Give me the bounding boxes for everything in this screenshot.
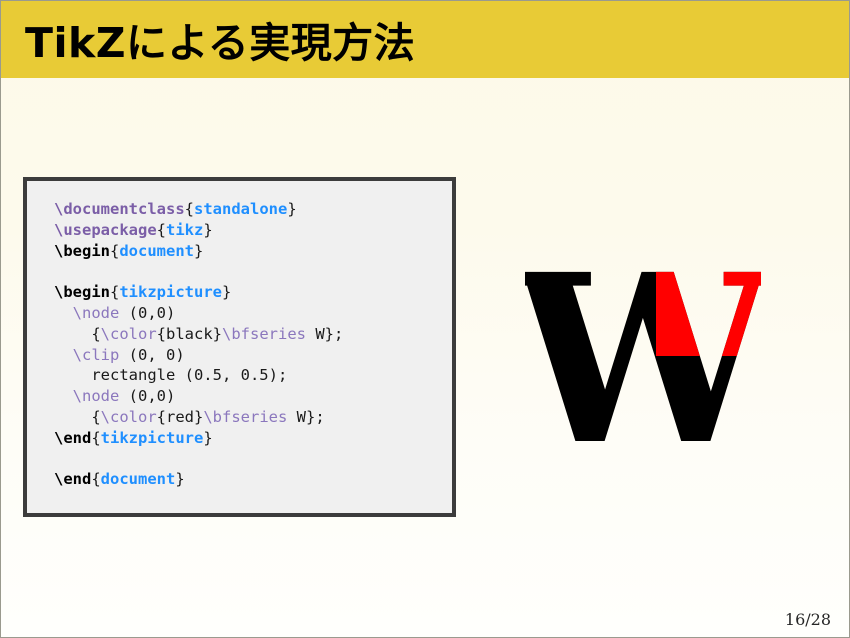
code-token: \bfseries <box>222 325 306 343</box>
code-token: \node <box>73 304 120 322</box>
code-token: tikzpicture <box>119 283 222 301</box>
code-line: \end{tikzpicture} <box>54 428 343 449</box>
page-title: TikZによる実現方法 <box>25 8 415 68</box>
code-token: } <box>203 429 212 447</box>
code-token: \node <box>73 387 120 405</box>
code-line: \node (0,0) <box>54 386 343 407</box>
code-line: \documentclass{standalone} <box>54 199 343 220</box>
code-token: tikzpicture <box>101 429 204 447</box>
code-token: } <box>222 283 231 301</box>
code-token: } <box>287 200 296 218</box>
code-token: (0,0) <box>119 387 175 405</box>
code-token <box>54 387 73 405</box>
code-listing-body: \documentclass{standalone}\usepackage{ti… <box>54 199 343 490</box>
slide-title-bar: TikZによる実現方法 <box>1 1 850 78</box>
code-token: \end <box>54 429 91 447</box>
code-token: \clip <box>73 346 120 364</box>
code-token: { <box>110 242 119 260</box>
code-token: \end <box>54 470 91 488</box>
code-token: document <box>101 470 176 488</box>
code-line: rectangle (0.5, 0.5); <box>54 365 343 386</box>
code-line <box>54 449 343 470</box>
code-token <box>54 346 73 364</box>
code-token: { <box>185 200 194 218</box>
clipped-w-illustration: W W <box>525 259 761 455</box>
code-token: } <box>194 242 203 260</box>
slide: TikZによる実現方法 \documentclass{standalone}\u… <box>0 0 850 638</box>
w-glyph-svg: W W <box>525 259 761 455</box>
code-line <box>54 261 343 282</box>
code-token: } <box>203 221 212 239</box>
code-token: tikz <box>166 221 203 239</box>
code-token: W}; <box>287 408 324 426</box>
code-token: {black} <box>157 325 222 343</box>
code-line: \usepackage{tikz} <box>54 220 343 241</box>
code-token: \begin <box>54 242 110 260</box>
code-token: { <box>91 429 100 447</box>
code-token: \begin <box>54 283 110 301</box>
code-line: \begin{tikzpicture} <box>54 282 343 303</box>
code-token: { <box>91 470 100 488</box>
code-token: standalone <box>194 200 287 218</box>
code-token: \bfseries <box>203 408 287 426</box>
code-listing-frame: \documentclass{standalone}\usepackage{ti… <box>23 177 456 517</box>
code-token: \usepackage <box>54 221 157 239</box>
code-line: \begin{document} <box>54 241 343 262</box>
code-line: {\color{black}\bfseries W}; <box>54 324 343 345</box>
code-line: \node (0,0) <box>54 303 343 324</box>
code-token: document <box>119 242 194 260</box>
code-token: \color <box>101 325 157 343</box>
code-token: {red} <box>157 408 204 426</box>
code-token: \color <box>101 408 157 426</box>
code-token <box>54 304 73 322</box>
code-token: { <box>54 408 101 426</box>
code-token: \documentclass <box>54 200 185 218</box>
code-token: } <box>175 470 184 488</box>
code-line: \clip (0, 0) <box>54 345 343 366</box>
code-token: (0,0) <box>119 304 175 322</box>
code-line: \end{document} <box>54 469 343 490</box>
code-token: rectangle (0.5, 0.5); <box>54 366 287 384</box>
code-token: W}; <box>306 325 343 343</box>
page-number: 16/28 <box>785 610 831 629</box>
code-line: {\color{red}\bfseries W}; <box>54 407 343 428</box>
code-token: { <box>54 325 101 343</box>
code-token: { <box>157 221 166 239</box>
code-token: { <box>110 283 119 301</box>
code-token: (0, 0) <box>119 346 184 364</box>
